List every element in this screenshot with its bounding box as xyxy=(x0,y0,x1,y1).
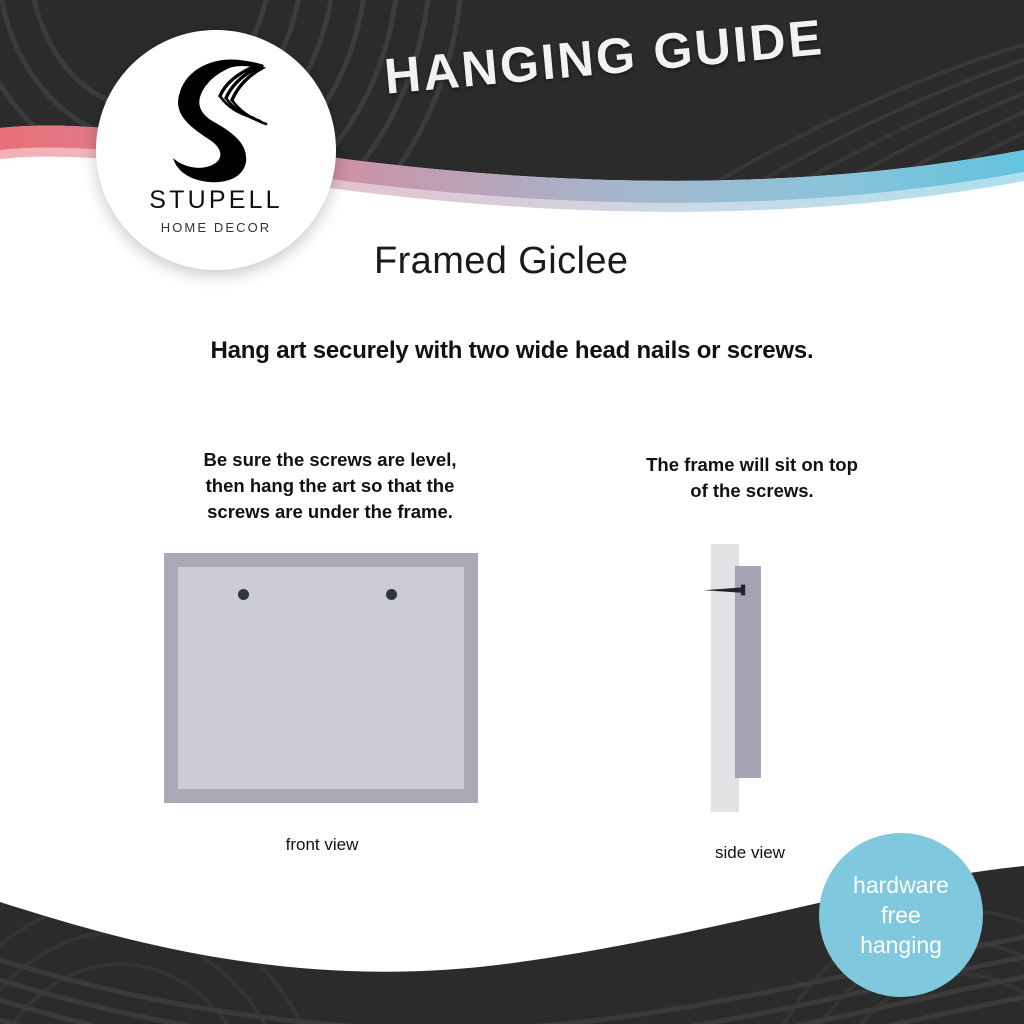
side-caption-line-2: of the screws. xyxy=(592,478,912,504)
screw-dot-right-icon xyxy=(386,589,397,600)
front-caption-line-3: screws are under the frame. xyxy=(150,499,510,525)
logo-name: STUPELL xyxy=(149,186,283,215)
front-caption-line-1: Be sure the screws are level, xyxy=(150,447,510,473)
logo-badge: STUPELL HOME DECOR xyxy=(96,30,336,270)
front-view-caption: Be sure the screws are level, then hang … xyxy=(150,447,510,525)
product-type: Framed Giclee xyxy=(374,240,628,283)
side-view-diagram xyxy=(700,544,800,812)
front-caption-line-2: then hang the art so that the xyxy=(150,473,510,499)
side-screw-icon xyxy=(704,584,752,596)
badge-line-1: hardware xyxy=(853,870,949,900)
stupell-swoosh-icon xyxy=(154,52,278,184)
lead-instruction: Hang art securely with two wide head nai… xyxy=(0,337,1024,365)
page-title: HANGING GUIDE xyxy=(382,3,885,106)
side-view-caption: The frame will sit on top of the screws. xyxy=(592,452,912,504)
side-view-label: side view xyxy=(660,843,840,863)
front-view-diagram xyxy=(164,553,478,803)
hardware-free-hanging-badge: hardware free hanging xyxy=(819,833,983,997)
screw-dot-left-icon xyxy=(238,589,249,600)
front-view-artwork-area xyxy=(178,567,464,789)
front-view-label: front view xyxy=(165,835,479,855)
side-caption-line-1: The frame will sit on top xyxy=(592,452,912,478)
logo-subtitle: HOME DECOR xyxy=(161,220,272,235)
badge-line-3: hanging xyxy=(860,930,942,960)
hanging-guide-page: HANGING GUIDE STUPELL HOME DECOR Framed … xyxy=(0,0,1024,1024)
badge-line-2: free xyxy=(881,900,921,930)
frame-strip xyxy=(735,566,761,778)
